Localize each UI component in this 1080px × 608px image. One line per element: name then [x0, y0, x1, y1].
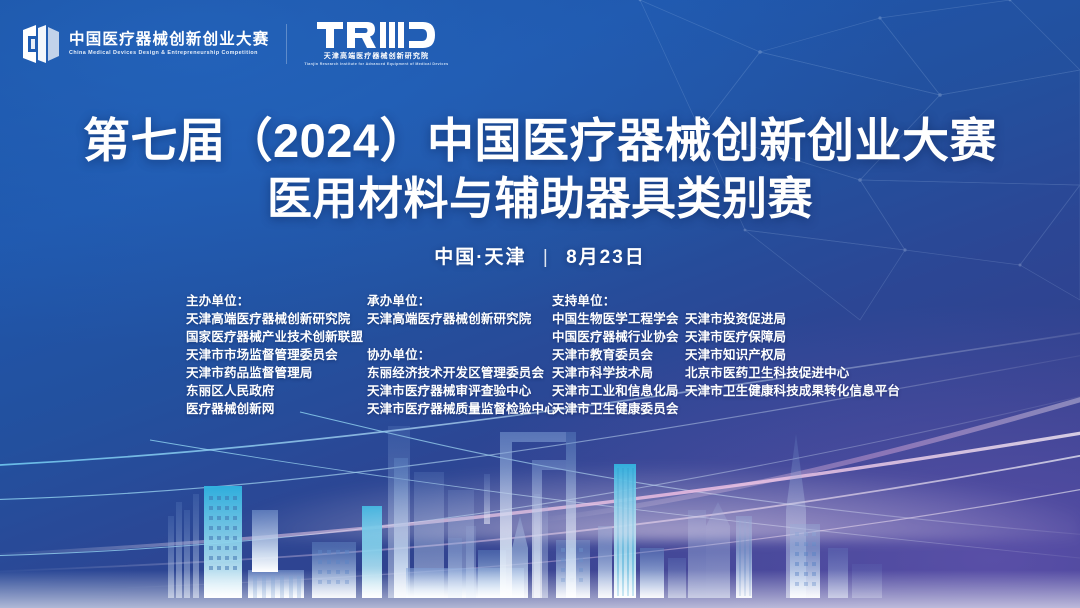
event-meta: 中国·天津 | 8月23日 [0, 242, 1080, 269]
list-item: 东丽区人民政府 [186, 382, 367, 400]
supporter-heading: 支持单位： [552, 292, 685, 310]
list-item: 天津市医疗保障局 [685, 328, 900, 346]
list-item: 天津市教育委员会 [552, 346, 685, 364]
list-item: 天津市卫生健康科技成果转化信息平台 [685, 382, 900, 400]
list-item: 中国医疗器械行业协会 [552, 328, 685, 346]
host-heading: 承办单位： [367, 292, 552, 310]
triid-wordmark-icon [317, 22, 435, 48]
list-item: 北京市医药卫生科技促进中心 [685, 364, 900, 382]
organizer-heading: 主办单位： [186, 292, 367, 310]
event-date: 8月23日 [566, 247, 646, 268]
open-book-logo-icon [22, 24, 60, 64]
title-block: 第七届（2024）中国医疗器械创新创业大赛 医用材料与辅助器具类别赛 中国·天津… [0, 112, 1080, 269]
main-logo: 中国医疗器械创新创业大赛 China Medical Devices Desig… [22, 24, 269, 64]
coorganizer-heading: 协办单位： [367, 346, 552, 364]
supporter-column: 支持单位： 中国生物医学工程学会 中国医疗器械行业协会 天津市教育委员会 天津市… [552, 292, 900, 418]
supporter-subcolumn-right: 天津市投资促进局 天津市医疗保障局 天津市知识产权局 北京市医药卫生科技促进中心… [685, 292, 900, 418]
list-item: 天津市医疗器械审评查验中心 [367, 382, 552, 400]
title-line-2: 医用材料与辅助器具类别赛 [0, 170, 1080, 228]
list-item: 天津市医疗器械质量监督检验中心 [367, 400, 552, 418]
list-item: 天津市科学技术局 [552, 364, 685, 382]
organizer-column: 主办单位： 天津高端医疗器械创新研究院 国家医疗器械产业技术创新联盟 天津市市场… [186, 292, 367, 418]
supporter-subcolumn-left: 支持单位： 中国生物医学工程学会 中国医疗器械行业协会 天津市教育委员会 天津市… [552, 292, 685, 418]
meta-separator: | [543, 247, 550, 269]
partner-logo-cn: 天津高端医疗器械创新研究院 [324, 53, 429, 60]
poster-canvas: 中国医疗器械创新创业大赛 China Medical Devices Desig… [0, 0, 1080, 608]
list-item: 天津市工业和信息化局 [552, 382, 685, 400]
host-coorganizer-column: 承办单位： 天津高端医疗器械创新研究院 协办单位： 东丽经济技术开发区管理委员会… [367, 292, 552, 418]
list-item: 天津市知识产权局 [685, 346, 900, 364]
logo-divider [286, 24, 287, 64]
list-item: 天津高端医疗器械创新研究院 [367, 310, 552, 328]
ground-glow [0, 430, 1080, 540]
header-logos: 中国医疗器械创新创业大赛 China Medical Devices Desig… [22, 22, 448, 67]
list-item: 东丽经济技术开发区管理委员会 [367, 364, 552, 382]
city-skyline-silhouette [0, 398, 1080, 608]
organizations-block: 主办单位： 天津高端医疗器械创新研究院 国家医疗器械产业技术创新联盟 天津市市场… [186, 292, 900, 418]
list-item: 医疗器械创新网 [186, 400, 367, 418]
main-logo-cn: 中国医疗器械创新创业大赛 [69, 32, 269, 48]
list-item: 中国生物医学工程学会 [552, 310, 685, 328]
column-spacer [367, 328, 552, 346]
event-location: 中国·天津 [434, 247, 526, 268]
title-line-1: 第七届（2024）中国医疗器械创新创业大赛 [0, 112, 1080, 170]
list-item: 天津市药品监督管理局 [186, 364, 367, 382]
list-item: 天津高端医疗器械创新研究院 [186, 310, 367, 328]
main-logo-en: China Medical Devices Design & Entrepren… [69, 51, 269, 57]
list-item: 天津市市场监督管理委员会 [186, 346, 367, 364]
partner-logo: 天津高端医疗器械创新研究院 Tianjin Research Institute… [304, 22, 448, 67]
list-item: 天津市投资促进局 [685, 310, 900, 328]
list-item: 国家医疗器械产业技术创新联盟 [186, 328, 367, 346]
list-item: 天津市卫生健康委员会 [552, 400, 685, 418]
partner-logo-en: Tianjin Research Institute for Advanced … [304, 63, 448, 67]
